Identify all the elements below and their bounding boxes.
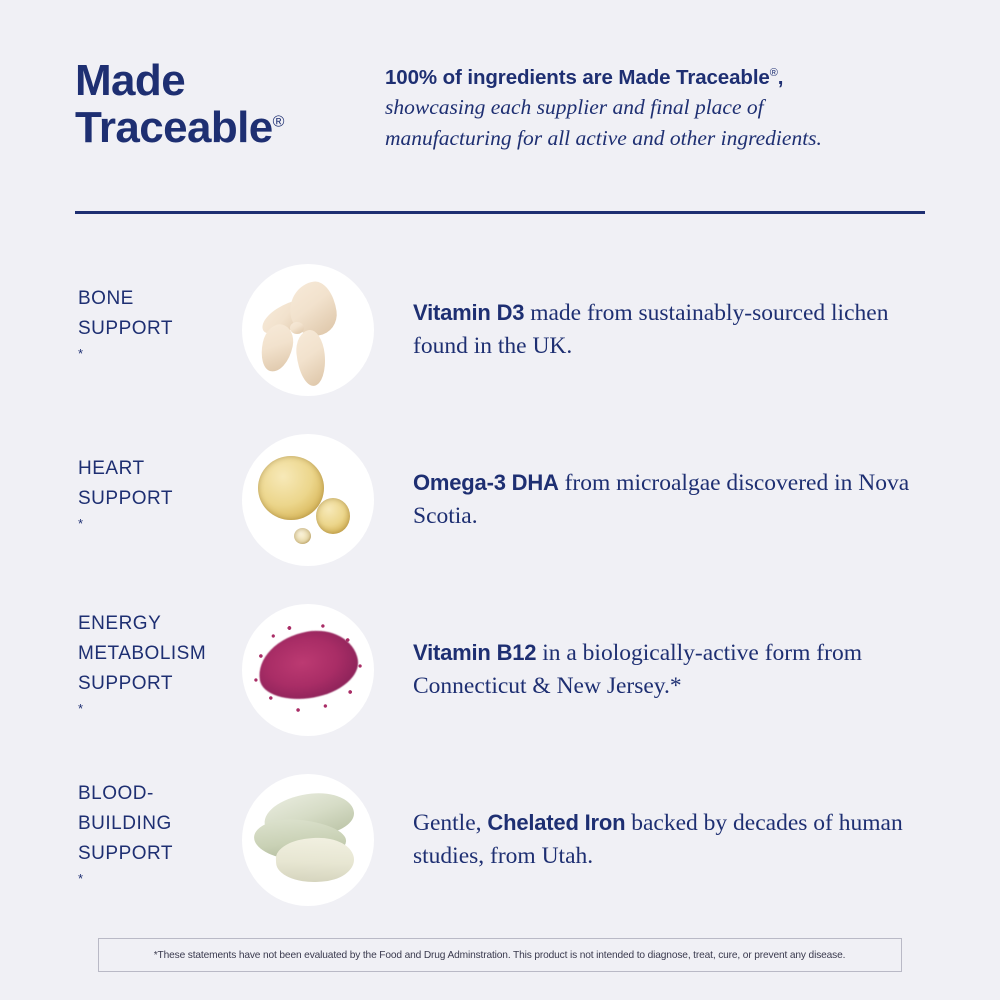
intro-lead-text: 100% of ingredients are Made Traceable®, <box>385 64 925 91</box>
benefit-rows: BONE SUPPORT* Vitamin D3 made from susta… <box>0 245 1000 925</box>
cream-lotion-droplet-swatch <box>242 264 374 396</box>
benefit-description: Vitamin B12 in a biologically-active for… <box>405 637 1000 704</box>
benefit-label-line-3: SUPPORT* <box>78 839 210 900</box>
benefit-label-line-2: BUILDING <box>78 809 210 839</box>
benefit-label-line-1: HEART <box>78 454 210 484</box>
oil-droplet-icon <box>316 498 350 534</box>
asterisk-icon: * <box>78 701 83 716</box>
brand-title-line-2: Traceable® <box>75 105 375 152</box>
asterisk-icon: * <box>78 871 83 886</box>
benefit-description: Omega-3 DHA from microalgae discovered i… <box>405 467 1000 534</box>
asterisk-icon: * <box>78 346 83 361</box>
intro-subtext-line-1: showcasing each supplier and final place… <box>385 92 925 123</box>
benefit-label-line-2: SUPPORT* <box>78 314 210 375</box>
benefit-label-line-2-text: SUPPORT <box>78 484 210 514</box>
benefit-label-line-3-text: SUPPORT <box>78 669 210 699</box>
swatch-container <box>210 604 405 736</box>
benefit-description: Vitamin D3 made from sustainably-sourced… <box>405 297 1000 364</box>
benefit-ingredient-name: Vitamin D3 <box>413 300 524 325</box>
benefit-label-line-2-text: SUPPORT <box>78 314 210 344</box>
disclaimer-box: *These statements have not been evaluate… <box>98 938 902 972</box>
made-traceable-infographic: Made Traceable® 100% of ingredients are … <box>0 0 1000 1000</box>
intro-lead-main: 100% of ingredients are Made Traceable <box>385 66 770 89</box>
swatch-container <box>210 774 405 906</box>
benefit-label-line-3: SUPPORT* <box>78 669 210 730</box>
registered-trademark-icon: ® <box>273 113 285 130</box>
asterisk-icon: * <box>78 516 83 531</box>
brand-title-line-1: Made <box>75 58 375 105</box>
intro-subtext: showcasing each supplier and final place… <box>385 92 925 153</box>
sage-green-cream-swatch <box>242 774 374 906</box>
benefit-label: BLOOD- BUILDING SUPPORT* <box>0 779 210 900</box>
benefit-description-prefix: Gentle, <box>413 810 487 836</box>
cream-blob-icon <box>294 329 328 388</box>
benefit-row: ENERGY METABOLISM SUPPORT* Vitamin B12 i… <box>0 585 1000 755</box>
benefit-description: Gentle, Chelated Iron backed by decades … <box>405 807 1000 874</box>
benefit-label: HEART SUPPORT* <box>0 454 210 545</box>
benefit-label-line-2: SUPPORT* <box>78 484 210 545</box>
benefit-ingredient-name: Chelated Iron <box>487 810 625 835</box>
benefit-ingredient-name: Omega-3 DHA <box>413 470 559 495</box>
golden-oil-droplets-swatch <box>242 434 374 566</box>
header: Made Traceable® 100% of ingredients are … <box>75 56 925 153</box>
benefit-label-line-1: BONE <box>78 284 210 314</box>
cream-droplet-icon <box>290 322 304 334</box>
disclaimer-text: *These statements have not been evaluate… <box>154 949 846 961</box>
magenta-powder-swatch <box>242 604 374 736</box>
benefit-ingredient-name: Vitamin B12 <box>413 640 536 665</box>
benefit-row: BONE SUPPORT* Vitamin D3 made from susta… <box>0 245 1000 415</box>
oil-droplet-icon <box>258 456 324 520</box>
oil-droplet-icon <box>294 528 311 544</box>
swatch-container <box>210 434 405 566</box>
header-divider <box>75 211 925 214</box>
benefit-label-line-1: BLOOD- <box>78 779 210 809</box>
brand-title-line-2-text: Traceable <box>75 103 273 152</box>
intro-subtext-line-2: manufacturing for all active and other i… <box>385 123 925 154</box>
benefit-row: BLOOD- BUILDING SUPPORT* Gentle, Chelate… <box>0 755 1000 925</box>
page-title: Made Traceable® <box>75 56 375 151</box>
benefit-row: HEART SUPPORT* Omega-3 DHA from microalg… <box>0 415 1000 585</box>
intro-lead-comma: , <box>778 66 784 89</box>
swatch-container <box>210 264 405 396</box>
benefit-label: ENERGY METABOLISM SUPPORT* <box>0 609 210 730</box>
benefit-label-line-3-text: SUPPORT <box>78 839 210 869</box>
registered-trademark-icon: ® <box>770 67 778 79</box>
benefit-label-line-1: ENERGY <box>78 609 210 639</box>
benefit-label-line-2: METABOLISM <box>78 639 210 669</box>
intro-block: 100% of ingredients are Made Traceable®,… <box>375 56 925 153</box>
benefit-label: BONE SUPPORT* <box>0 284 210 375</box>
